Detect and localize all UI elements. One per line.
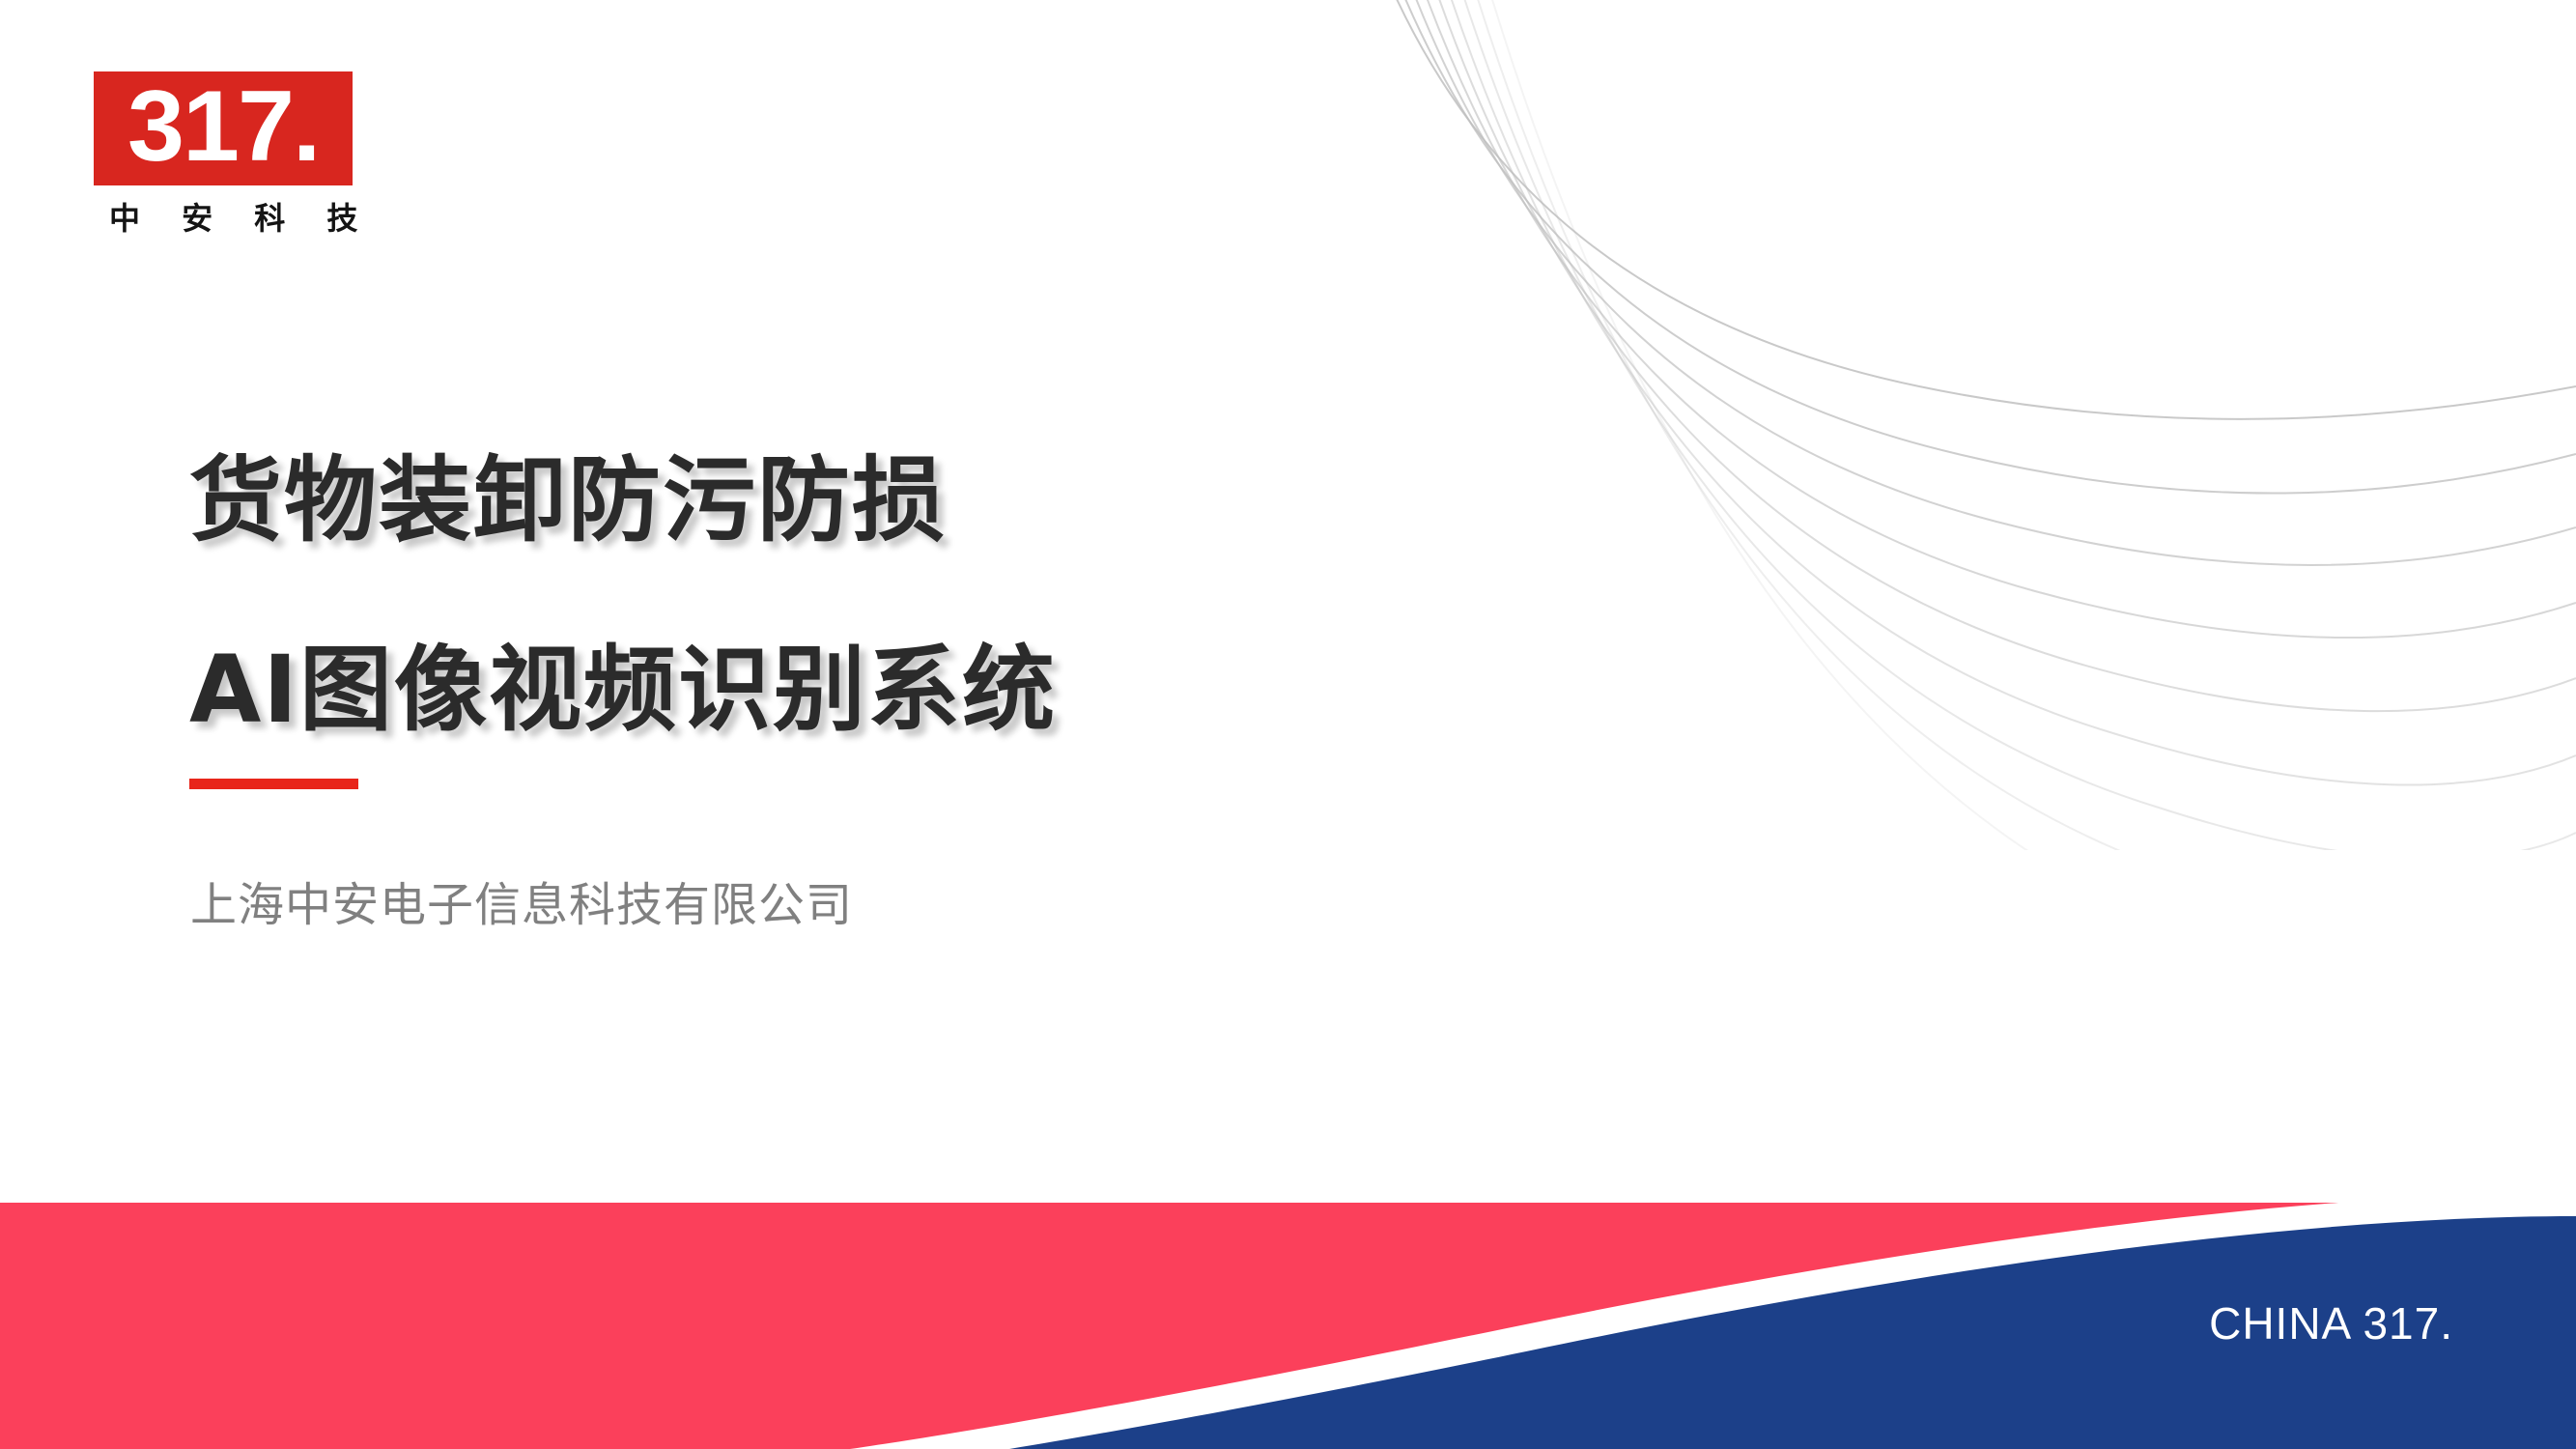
title-line-1: 货物装卸防污防损 [189,406,1348,595]
swoosh-lines-svg [1320,0,2576,850]
bottom-banner: CHINA 317. [0,1203,2576,1449]
logo-company-short-name: 中 安 科 技 [94,199,353,238]
title-slide: 317. 中 安 科 技 货物装卸防污防损 AI图像视频识别系统 上海中安电子信… [0,0,2576,1449]
company-logo: 317. 中 安 科 技 [94,71,353,238]
title-line-2: AI图像视频识别系统 [189,595,1348,784]
logo-mark-text: 317. [127,78,319,175]
logo-mark-317: 317. [94,71,353,185]
company-full-name-subtitle: 上海中安电子信息科技有限公司 [190,875,853,935]
banner-brand-label: CHINA 317. [2209,1299,2453,1348]
banner-shapes-svg [0,1203,2576,1449]
red-divider-rule [189,779,358,789]
slide-title: 货物装卸防污防损 AI图像视频识别系统 [189,406,1348,784]
decorative-swoosh-lines [1320,0,2576,850]
